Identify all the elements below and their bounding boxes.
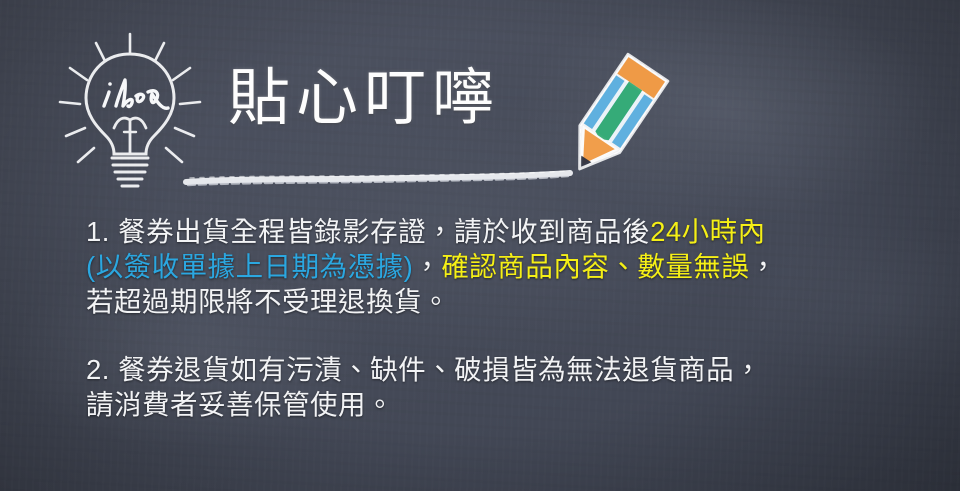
- notice-2-line-1: 2. 餐券退貨如有污漬、缺件、破損皆為無法退貨商品，: [86, 354, 762, 385]
- colored-pencil-icon: [548, 40, 684, 190]
- chalkboard-slide: 貼心叮嚀: [0, 0, 960, 491]
- notice-1-line-3: 若超過期限將不受理退換貨。: [86, 286, 450, 317]
- page-title: 貼心叮嚀: [228, 68, 500, 130]
- notice-list: 1. 餐券出貨全程皆錄影存證，請於收到商品後24小時內 (以簽收單據上日期為憑據…: [86, 214, 926, 422]
- notice-2-line-2: 請消費者妥善保管使用。: [86, 389, 394, 420]
- notice-item-1: 1. 餐券出貨全程皆錄影存證，請於收到商品後24小時內 (以簽收單據上日期為憑據…: [86, 214, 926, 319]
- notice-1-highlight-receipt-date: (以簽收單據上日期為憑據): [86, 251, 413, 282]
- idea-word: [104, 80, 168, 108]
- notice-item-2: 2. 餐券退貨如有污漬、缺件、破損皆為無法退貨商品， 請消費者妥善保管使用。: [86, 352, 926, 422]
- notice-1-comma-1: ，: [413, 251, 441, 282]
- slide-header: 貼心叮嚀: [0, 0, 960, 200]
- chalk-underline: [178, 160, 578, 196]
- notice-1-line-1-white: 1. 餐券出貨全程皆錄影存證，請於收到商品後: [86, 216, 650, 247]
- notice-1-highlight-24h: 24小時內: [650, 216, 766, 247]
- notice-1-comma-2: ，: [749, 251, 777, 282]
- notice-1-highlight-verify: 確認商品內容、數量無誤: [441, 251, 749, 282]
